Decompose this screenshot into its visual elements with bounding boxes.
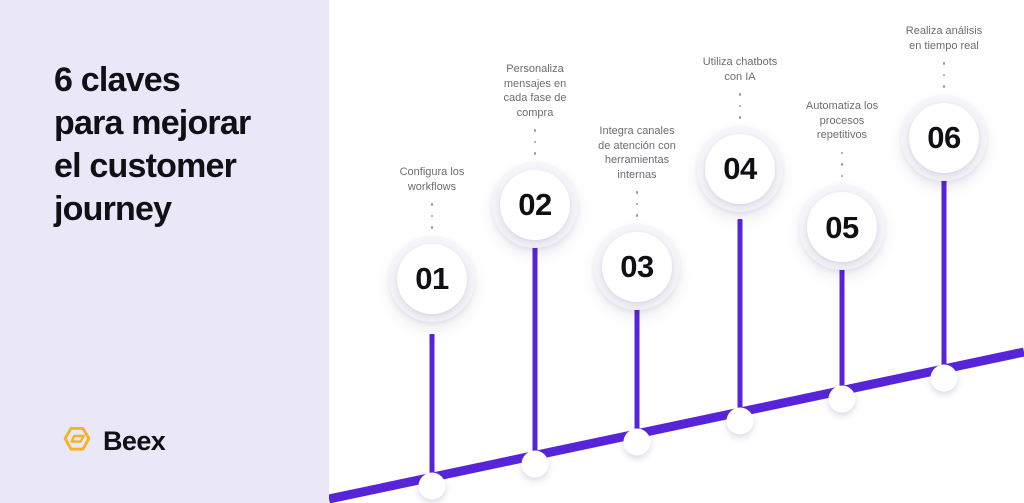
step-stem	[430, 334, 435, 486]
brand-logo: Beex	[60, 424, 165, 458]
infographic-canvas: 6 claves para mejorar el customer journe…	[0, 0, 1024, 503]
badge-inner-disc: 02	[500, 170, 570, 240]
step-stem	[635, 307, 640, 442]
baseline-junction-03	[624, 429, 651, 456]
step-number: 04	[723, 153, 756, 184]
left-title-panel: 6 claves para mejorar el customer journe…	[0, 0, 329, 503]
badge-inner-disc: 05	[807, 192, 877, 262]
step-stem	[840, 269, 845, 399]
baseline-junction-04	[727, 408, 754, 435]
badge-inner-disc: 04	[705, 134, 775, 204]
step-number: 05	[825, 212, 858, 243]
dotted-connector-icon	[636, 191, 639, 217]
dotted-connector-icon	[841, 152, 844, 178]
step-number-badge[interactable]: 03	[594, 224, 680, 310]
step-number-badge[interactable]: 06	[901, 95, 987, 181]
step-stem	[533, 245, 538, 464]
baseline-junction-01	[419, 473, 446, 500]
step-number: 01	[415, 263, 448, 294]
page-title: 6 claves para mejorar el customer journe…	[54, 59, 316, 231]
step-label: Utiliza chatbots con IA	[681, 55, 799, 84]
badge-inner-disc: 01	[397, 244, 467, 314]
baseline-junction-05	[829, 386, 856, 413]
step-number-badge[interactable]: 01	[389, 236, 475, 322]
timeline-panel: Configura los workflows01Personaliza men…	[329, 0, 1024, 503]
step-number: 02	[518, 189, 551, 220]
dotted-connector-icon	[739, 93, 742, 119]
step-label: Personaliza mensajes en cada fase de com…	[476, 62, 594, 120]
baseline-junction-02	[522, 451, 549, 478]
dotted-connector-icon	[534, 129, 537, 155]
beex-hexagon-logo-icon	[60, 424, 94, 458]
brand-name: Beex	[103, 428, 165, 455]
step-number-badge[interactable]: 05	[799, 184, 885, 270]
dotted-connector-icon	[943, 62, 946, 88]
dotted-connector-icon	[431, 203, 434, 229]
step-stem	[738, 219, 743, 421]
step-number: 03	[620, 251, 653, 282]
step-label: Realiza análisis en tiempo real	[885, 24, 1003, 53]
baseline-junction-06	[931, 365, 958, 392]
badge-inner-disc: 06	[909, 103, 979, 173]
timeline-step-06[interactable]: Realiza análisis en tiempo real06	[869, 24, 1019, 181]
step-number: 06	[927, 122, 960, 153]
badge-inner-disc: 03	[602, 232, 672, 302]
step-stem	[942, 178, 947, 378]
